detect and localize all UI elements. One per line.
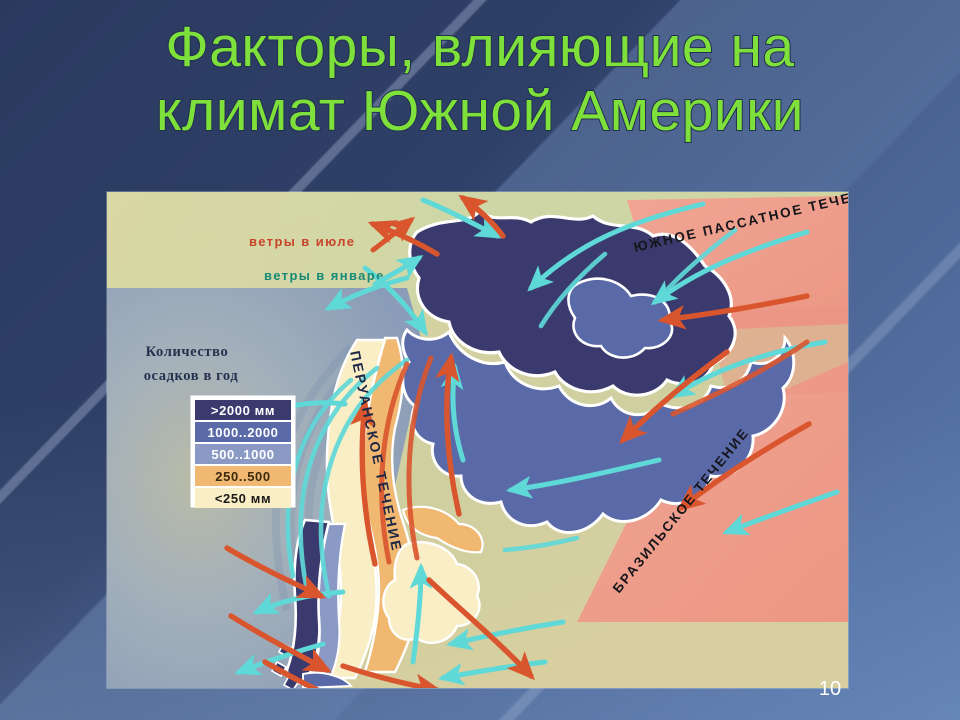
slide: Факторы, влияющие на климат Южной Америк… (0, 0, 960, 720)
legend-entry-label-4: <250 мм (215, 491, 271, 506)
legend-entry-label-0: >2000 мм (211, 403, 275, 418)
legend-entry: 1000..2000 (195, 422, 291, 442)
legend-title-line-1: Количество (146, 344, 229, 360)
wind-label-january: ветры в январе (264, 268, 385, 283)
legend-entry: 500..1000 (195, 444, 291, 464)
legend-title-line-2: осадков в год (144, 368, 239, 384)
legend-entry: 250..500 (195, 466, 291, 486)
climate-map-image: ветры в июле ветры в январе Количество о… (107, 192, 848, 688)
legend-entry-label-2: 500..1000 (211, 447, 274, 462)
legend-entry: <250 мм (195, 488, 291, 508)
legend-entry: >2000 мм (195, 400, 291, 420)
wind-label-july: ветры в июле (249, 234, 355, 249)
legend-entry-label-1: 1000..2000 (207, 425, 278, 440)
slide-title: Факторы, влияющие на климат Южной Америк… (0, 16, 960, 144)
slide-number: 10 (810, 678, 850, 701)
legend-entry-label-3: 250..500 (215, 469, 270, 484)
